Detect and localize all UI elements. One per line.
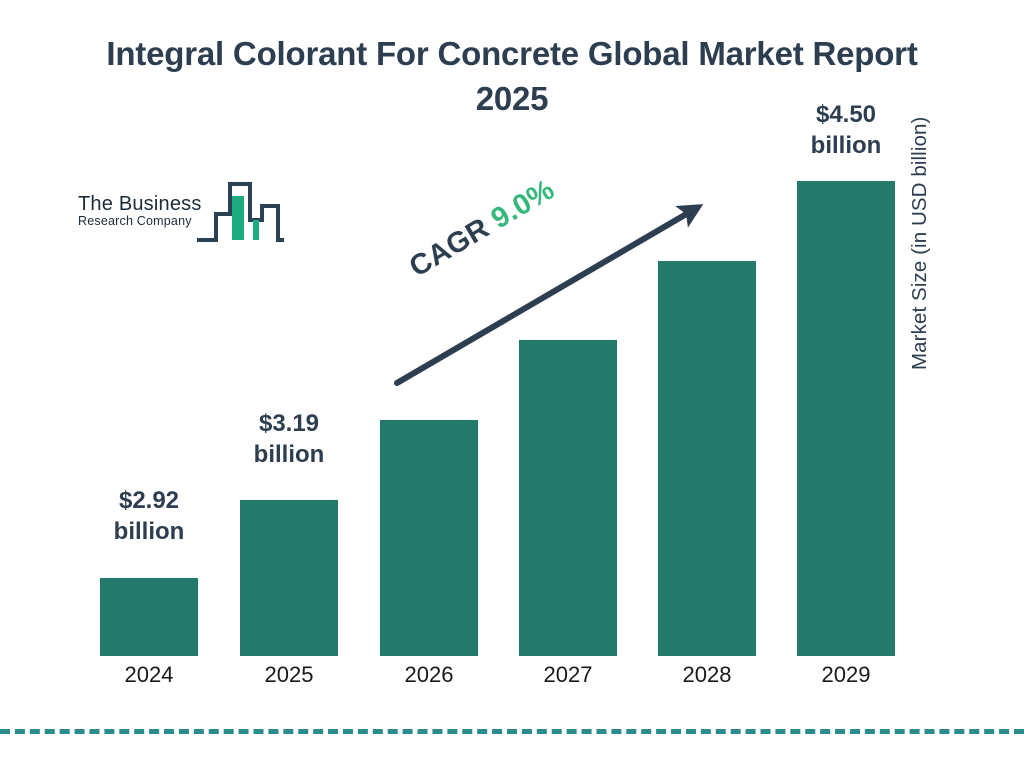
- chart-page: Integral Colorant For Concrete Global Ma…: [0, 0, 1024, 768]
- bar-chart-plot: $2.92 billion $3.19 billion $4.50 billio…: [0, 0, 1024, 768]
- footer-divider: [0, 729, 1024, 734]
- cagr-trend-arrow-icon: [0, 0, 1024, 768]
- y-axis-label: Market Size (in USD billion): [908, 40, 932, 370]
